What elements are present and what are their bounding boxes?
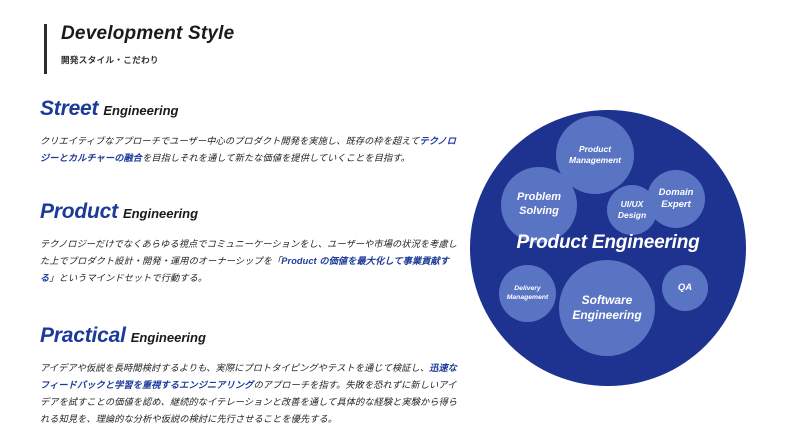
body-text: アイデアや仮説を長時間検討するよりも、実際にプロトタイピングやテストを通じて検証… (40, 363, 429, 373)
bubble-delivery-management: DeliveryManagement (499, 265, 556, 322)
body-text: を目指しそれを通して新たな価値を提供していくことを目指す。 (142, 153, 410, 163)
section-heading-sub: Engineering (131, 330, 206, 345)
bubble-label: UI/UXDesign (618, 199, 646, 220)
section-street: StreetEngineering クリエイティブなアプローチでユーザー中心のプ… (40, 98, 460, 167)
bubble-software-engineering: SoftwareEngineering (559, 260, 655, 356)
bubble-label: QA (678, 282, 692, 294)
bubble-label: DomainExpert (659, 187, 694, 211)
section-body-street: クリエイティブなアプローチでユーザー中心のプロダクト開発を実施し、既存の枠を超え… (40, 133, 460, 167)
page-subtitle: 開発スタイル・こだわり (61, 54, 234, 66)
body-text: 」というマインドセットで行動する。 (49, 273, 207, 283)
product-engineering-diagram: ProductManagement ProblemSolving UI/UXDe… (470, 110, 746, 386)
section-heading-practical: PracticalEngineering (40, 325, 460, 346)
body-text: クリエイティブなアプローチでユーザー中心のプロダクト開発を実施し、既存の枠を超え… (40, 136, 419, 146)
bubble-label: DeliveryManagement (507, 285, 549, 302)
sections-column: StreetEngineering クリエイティブなアプローチでユーザー中心のプ… (40, 98, 460, 428)
page-title: Development Style (61, 24, 234, 45)
page-root: Development Style 開発スタイル・こだわり StreetEngi… (0, 0, 795, 447)
bubble-domain-expert: DomainExpert (647, 170, 705, 228)
bubble-label: ProblemSolving (517, 191, 561, 219)
section-heading-sub: Engineering (103, 103, 178, 118)
section-heading-main: Street (40, 97, 98, 120)
bubble-label: ProductManagement (569, 144, 621, 165)
section-product: ProductEngineering テクノロジーだけでなくあらゆる視点でコミュ… (40, 201, 460, 287)
section-practical: PracticalEngineering アイデアや仮説を長時間検討するよりも、… (40, 325, 460, 428)
section-body-product: テクノロジーだけでなくあらゆる視点でコミュニーケーションをし、ユーザーや市場の状… (40, 236, 460, 287)
section-body-practical: アイデアや仮説を長時間検討するよりも、実際にプロトタイピングやテストを通じて検証… (40, 360, 460, 428)
section-heading-main: Practical (40, 324, 126, 347)
bubble-label: SoftwareEngineering (572, 293, 641, 323)
section-heading-sub: Engineering (123, 206, 198, 221)
section-heading-main: Product (40, 200, 118, 223)
page-header: Development Style 開発スタイル・こだわり (44, 24, 234, 74)
section-heading-street: StreetEngineering (40, 98, 460, 119)
bubble-qa: QA (662, 265, 708, 311)
diagram-center-label: Product Engineering (470, 232, 746, 254)
section-heading-product: ProductEngineering (40, 201, 460, 222)
